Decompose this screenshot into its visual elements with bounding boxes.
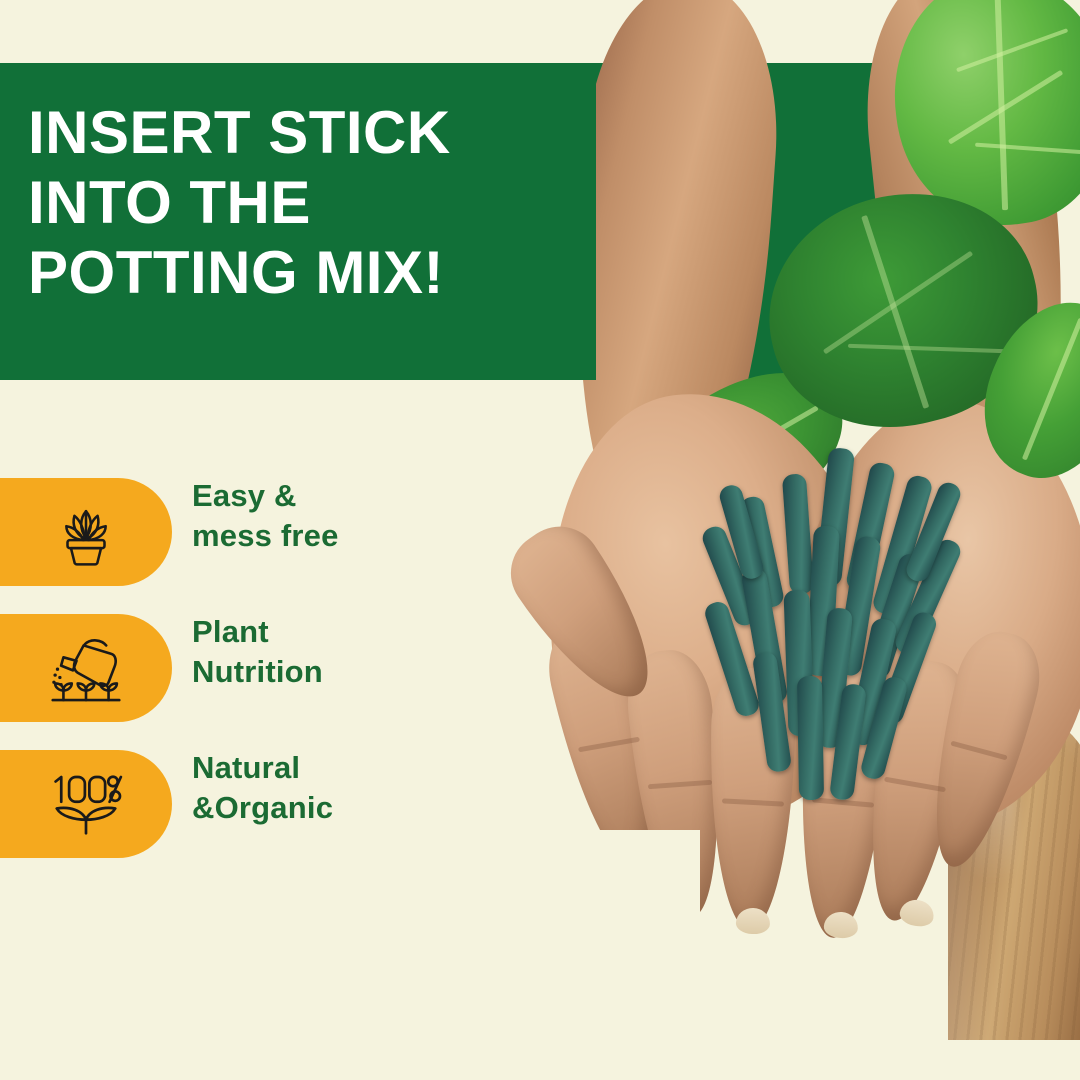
feature-badge-pill[interactable] <box>0 750 172 858</box>
feature-label-line-1: Easy & <box>192 476 432 516</box>
feature-label-line-1: Natural <box>192 748 432 788</box>
feature-label-natural-organic: Natural &Organic <box>192 748 432 829</box>
page-title: INSERT STICK INTO THE POTTING MIX! <box>28 98 568 309</box>
feature-label-line-2: mess free <box>192 516 432 556</box>
fertilizer-stick <box>782 473 814 594</box>
product-poster: INSERT STICK INTO THE POTTING MIX! <box>0 0 1080 1080</box>
headline-line-2: INTO THE <box>28 168 568 238</box>
feature-label-line-2: &Organic <box>192 788 432 828</box>
headline-line-1: INSERT STICK <box>28 98 568 168</box>
fertilizer-sticks-pile <box>690 440 990 830</box>
fertilizer-stick <box>797 676 824 800</box>
feature-list: Easy & mess free <box>0 470 430 878</box>
feature-item-natural-organic: Natural &Organic <box>0 742 430 878</box>
feature-badge-pill[interactable] <box>0 478 172 586</box>
watering-can-sprouts-icon <box>48 630 124 706</box>
feature-label-easy-mess-free: Easy & mess free <box>192 476 432 557</box>
hundred-percent-leaves-icon <box>45 768 127 840</box>
headline-line-3: POTTING MIX! <box>28 238 568 308</box>
potted-plant-icon <box>49 495 123 569</box>
feature-label-line-1: Plant <box>192 612 432 652</box>
feature-badge-pill[interactable] <box>0 614 172 722</box>
feature-label-line-2: Nutrition <box>192 652 432 692</box>
feature-item-plant-nutrition: Plant Nutrition <box>0 606 430 742</box>
feature-label-plant-nutrition: Plant Nutrition <box>192 612 432 693</box>
feature-item-easy-mess-free: Easy & mess free <box>0 470 430 606</box>
